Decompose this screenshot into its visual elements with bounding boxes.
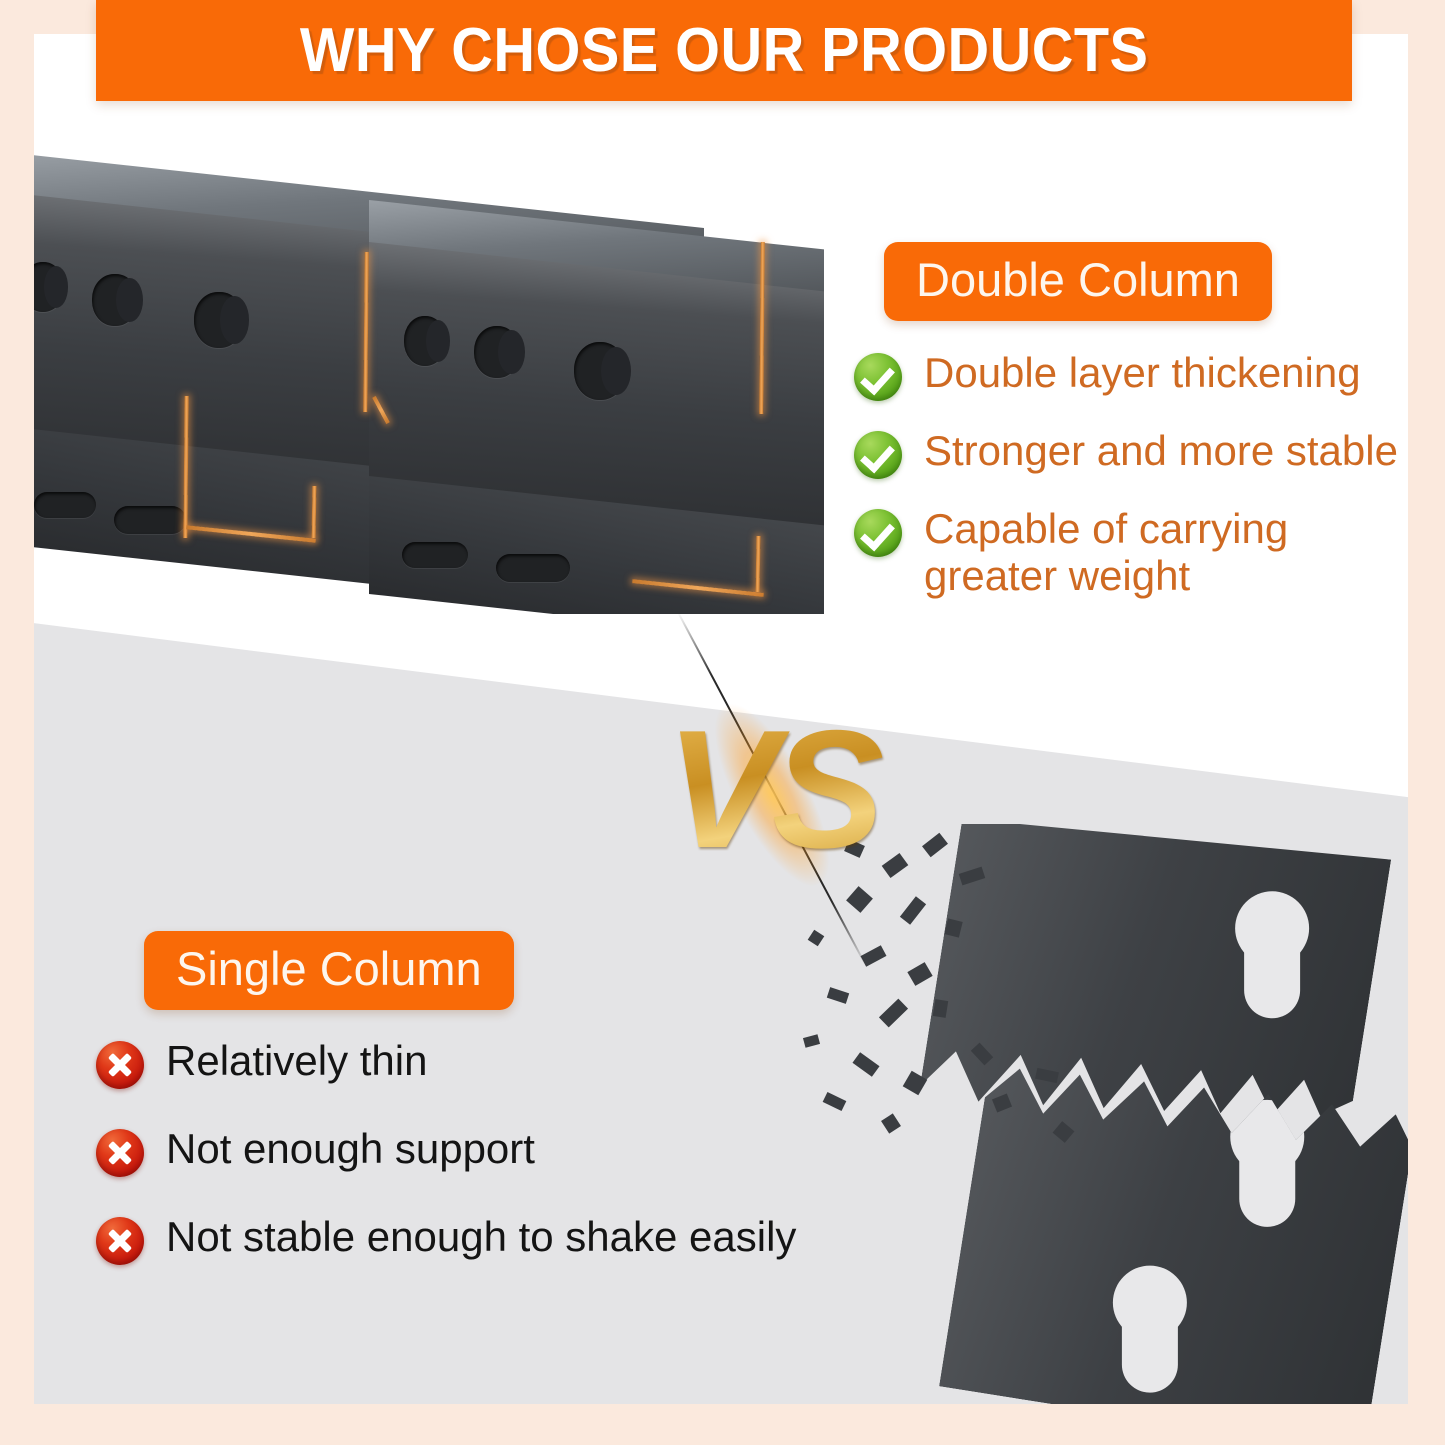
check-circle-icon [854, 431, 902, 479]
list-item: Not enough support [96, 1125, 876, 1177]
double-column-rail-photo [34, 134, 824, 614]
page-title: WHY CHOSE OUR PRODUCTS [300, 15, 1149, 86]
list-item: Not stable enough to shake easily [96, 1213, 876, 1265]
cross-circle-icon [96, 1217, 144, 1265]
list-item: Double layer thickening [854, 349, 1408, 401]
pros-list: Double layer thickening Stronger and mor… [854, 349, 1408, 625]
check-circle-icon [854, 509, 902, 557]
vs-label: VS [632, 649, 912, 929]
list-item-label: Capable of carrying greater weight [924, 505, 1324, 599]
cross-circle-icon [96, 1129, 144, 1177]
list-item-label: Double layer thickening [924, 349, 1361, 396]
single-column-badge: Single Column [144, 931, 514, 1010]
versus-divider: VS [632, 649, 912, 929]
cons-list: Relatively thin Not enough support Not s… [96, 1037, 876, 1301]
list-item: Relatively thin [96, 1037, 876, 1089]
list-item: Capable of carrying greater weight [854, 505, 1408, 599]
list-item-label: Not stable enough to shake easily [166, 1213, 796, 1260]
content-frame: VS Double Column Double layer thickening… [34, 34, 1408, 1404]
list-item-label: Relatively thin [166, 1037, 427, 1084]
cross-circle-icon [96, 1041, 144, 1089]
header-banner: WHY CHOSE OUR PRODUCTS [96, 0, 1352, 101]
double-column-badge: Double Column [884, 242, 1272, 321]
list-item-label: Stronger and more stable [924, 427, 1398, 474]
check-circle-icon [854, 353, 902, 401]
list-item-label: Not enough support [166, 1125, 535, 1172]
list-item: Stronger and more stable [854, 427, 1408, 479]
infographic-root: VS Double Column Double layer thickening… [0, 0, 1445, 1445]
